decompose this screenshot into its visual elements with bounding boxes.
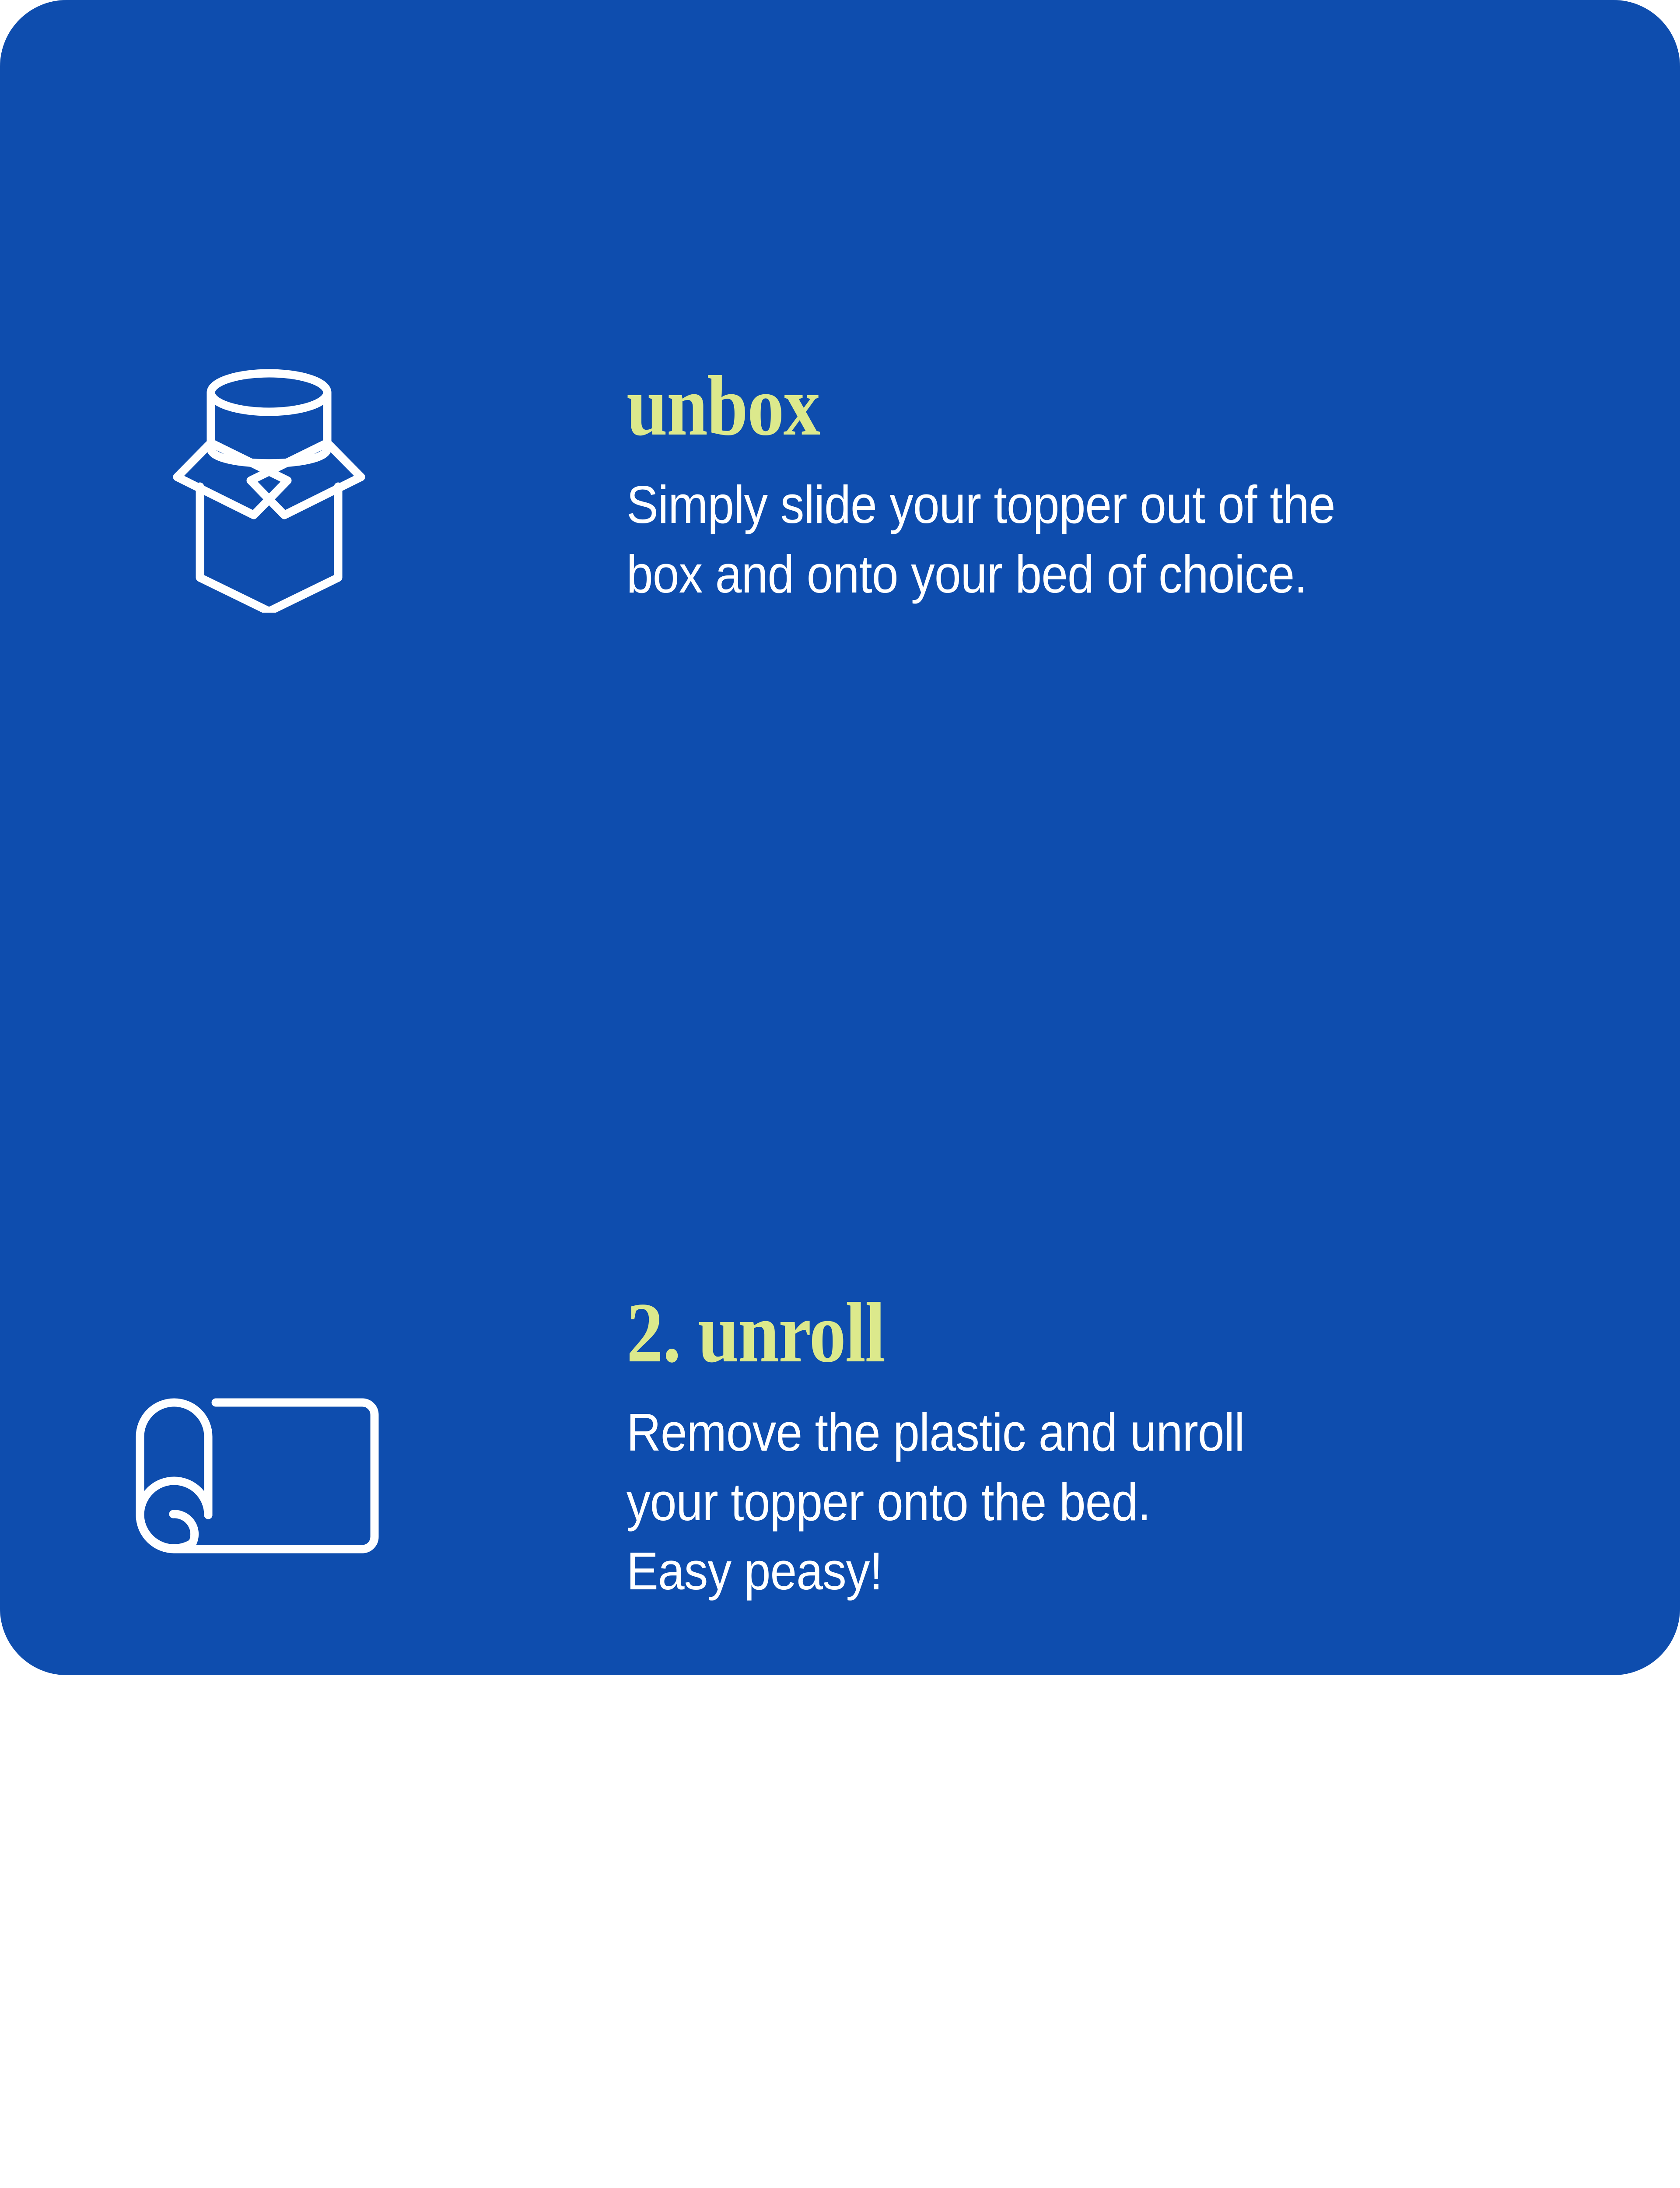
step-body: Simply slide your topper out of the box …	[626, 470, 1527, 609]
steps-list: unbox Simply slide your topper out of th…	[0, 0, 1680, 1675]
instructions-card: unbox Simply slide your topper out of th…	[0, 0, 1680, 1675]
open-box-with-rolled-topper-icon	[173, 368, 365, 615]
step-item-unbox: unbox Simply slide your topper out of th…	[0, 175, 1680, 473]
step-item-unroll: 2. unroll Remove the plastic and unroll …	[0, 643, 1680, 950]
step-heading: unbox	[626, 363, 1492, 449]
step-text-unbox: unbox Simply slide your topper out of th…	[626, 363, 1633, 609]
step-item-relax: 3. relax Sit back and watch as your topp…	[0, 1103, 1680, 1497]
